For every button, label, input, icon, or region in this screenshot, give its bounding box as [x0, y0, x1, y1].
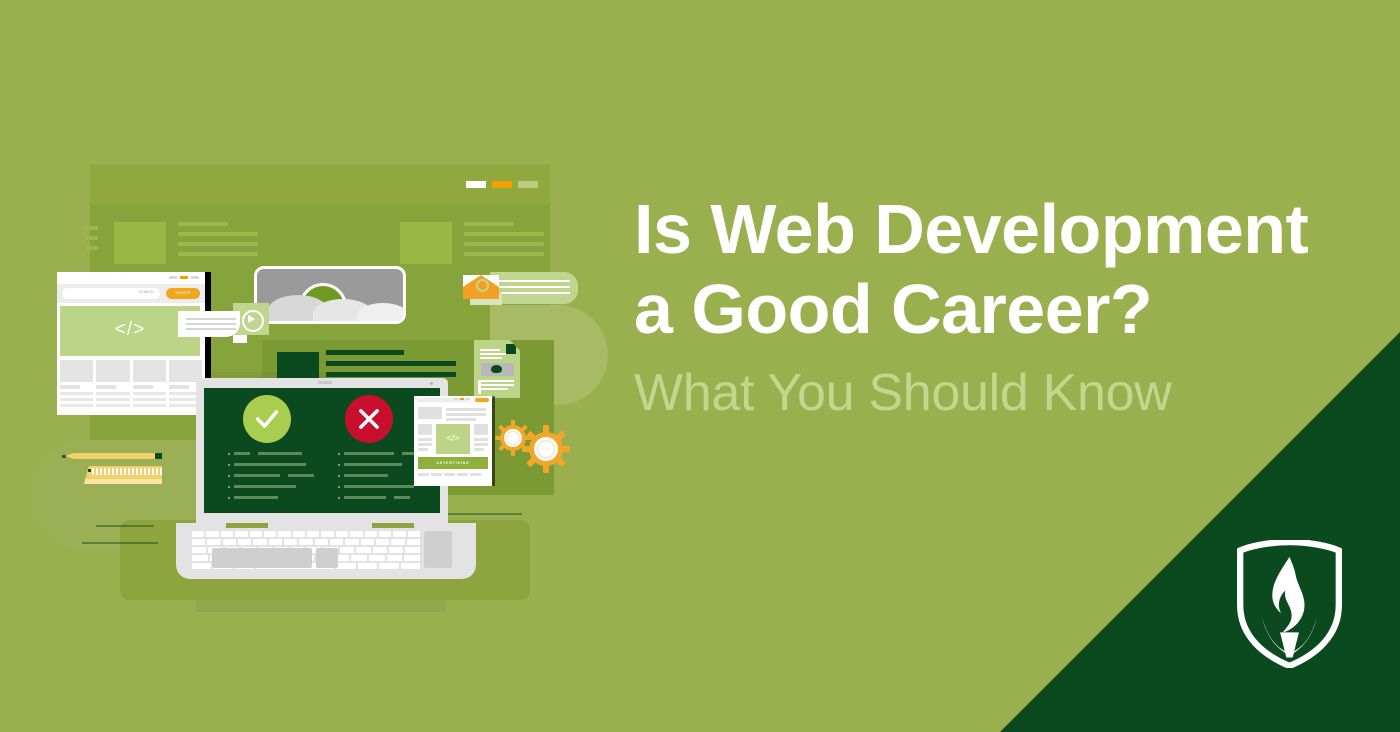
panel-thumb [400, 222, 452, 264]
laptop-trackpad[interactable] [212, 548, 312, 568]
pencil-eraser [155, 453, 162, 459]
browser-card-grid [60, 360, 202, 407]
doc-image-placeholder [481, 363, 514, 376]
nav-dot-orange [492, 181, 512, 188]
doc-corner-mark [506, 344, 516, 354]
mini-footer [418, 473, 481, 476]
browser-toolbar: SEARCH SEARCH [57, 284, 205, 303]
panel-text-lines [178, 222, 258, 256]
advertising-banner[interactable]: ADVERTISING [418, 457, 488, 469]
laptop-numpad-area [316, 548, 338, 568]
code-glyph-icon: </> [436, 433, 470, 443]
search-button[interactable]: SEARCH [166, 288, 200, 299]
pros-bullet-list [228, 452, 318, 507]
list-item [228, 496, 318, 499]
hero-illustration: SEARCH SEARCH </> [0, 0, 640, 732]
mini-hero-banner: </> [436, 424, 470, 454]
panel-content-row-1 [114, 222, 258, 264]
gear-icon [522, 425, 570, 473]
pencil-icon [74, 453, 162, 459]
ruler-hole [88, 469, 91, 472]
headline-line-1: Is Web Development [634, 190, 1308, 268]
ruler-icon [84, 466, 162, 484]
panel-thumb [114, 222, 166, 264]
content-card[interactable] [96, 360, 129, 407]
browser-titlebar [57, 272, 205, 284]
envelope-mail-icon [463, 275, 499, 299]
mini-search-button[interactable] [475, 398, 489, 402]
tree-shape [491, 365, 502, 373]
nav-dot-white [466, 181, 486, 188]
marketing-banner: SEARCH SEARCH </> [0, 0, 1400, 732]
list-item [228, 485, 318, 488]
browser-nav-dots [169, 276, 199, 279]
mini-browser-window[interactable]: </> ADVERTISING [414, 396, 492, 486]
rasmussen-shield-torch-logo [1237, 540, 1342, 668]
laptop-hinge-left [226, 523, 268, 528]
laptop-indicator [430, 382, 433, 385]
x-circle-icon [345, 395, 393, 443]
play-card-tail [233, 335, 247, 343]
nav-dot-green [518, 181, 538, 188]
advertising-banner-label: ADVERTISING [418, 461, 488, 465]
panel-text-lines [464, 222, 544, 256]
document-card-icon [474, 340, 520, 398]
mini-nav-dots [454, 398, 470, 400]
laptop-side-panel [424, 531, 452, 568]
content-card[interactable] [133, 360, 166, 407]
pencil-tip [65, 453, 74, 459]
pencil-lead [62, 455, 66, 458]
ruler-base [84, 479, 162, 484]
mini-left-column [418, 424, 432, 453]
message-bubble [490, 272, 578, 304]
hill-shape [357, 303, 406, 324]
mini-right-column [474, 424, 488, 453]
search-button-label: SEARCH [166, 291, 200, 295]
headline-block: Is Web Development a Good Career? What Y… [634, 190, 1354, 423]
laptop-camera [318, 381, 332, 384]
search-input[interactable]: SEARCH [62, 288, 160, 299]
nav-dots [466, 181, 538, 188]
content-card[interactable] [60, 360, 93, 407]
check-circle-icon [243, 395, 291, 443]
list-item [228, 463, 318, 466]
doc-spine [478, 380, 481, 394]
browser-window[interactable]: SEARCH SEARCH </> [57, 272, 205, 415]
ruler-ticks [92, 468, 170, 475]
headline-line-2: a Good Career? [634, 270, 1152, 348]
page-subtitle: What You Should Know [634, 364, 1354, 424]
edge-hairlines [86, 226, 98, 250]
search-placeholder-label: SEARCH [139, 290, 154, 294]
page-title: Is Web Development a Good Career? [634, 190, 1354, 350]
mini-browser-titlebar [414, 396, 492, 403]
decor-line [82, 542, 158, 544]
list-item [228, 452, 318, 455]
decor-line [96, 525, 154, 527]
envelope-seal [476, 279, 489, 292]
panel-content-row-2 [400, 222, 544, 264]
list-item [228, 474, 318, 477]
list-item [338, 496, 428, 499]
callout-bubble [178, 311, 240, 337]
image-photo-frame-icon [254, 266, 406, 324]
mini-header-thumb [418, 407, 442, 419]
play-triangle [248, 315, 255, 323]
laptop-hinge-right [372, 523, 414, 528]
